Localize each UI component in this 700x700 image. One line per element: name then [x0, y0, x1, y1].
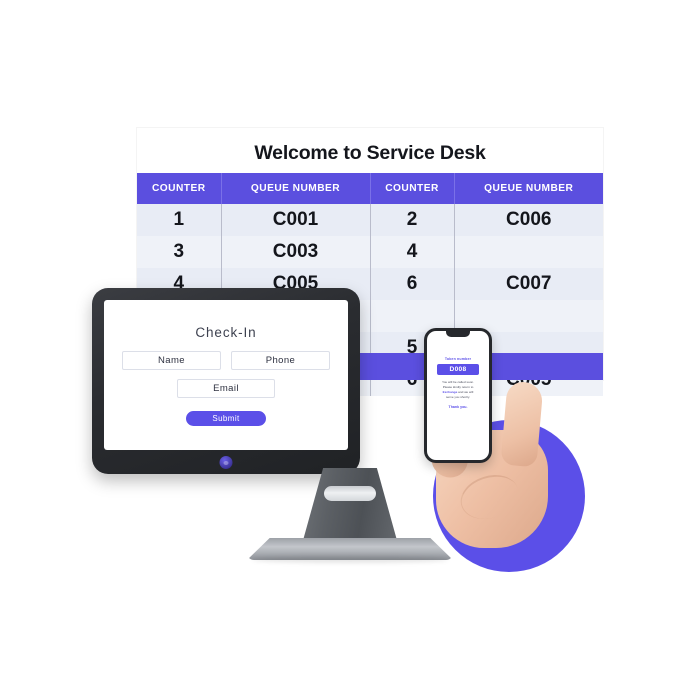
token-thanks: Thank you. [432, 405, 484, 409]
phone-notch [446, 331, 470, 337]
token-message-line-3: and we will [458, 390, 473, 394]
monitor-stand-slot [324, 486, 376, 501]
kiosk-monitor: Check-In Name Phone Email Submit [92, 288, 360, 474]
cell-counter-b: 2 [370, 204, 454, 236]
mobile-phone: Token number D008 You will be called soo… [424, 328, 492, 463]
cell-queue-a: C001 [221, 204, 370, 236]
table-row: 1 C001 2 C006 [137, 204, 603, 236]
monitor-stand-neck [302, 468, 398, 544]
cell-counter-a: 1 [137, 204, 221, 236]
checkin-form: Check-In Name Phone Email Submit [104, 300, 348, 450]
fingers [500, 381, 543, 468]
table-row: 3 C003 4 [137, 236, 603, 268]
token-number-badge: D008 [437, 364, 479, 375]
token-message-line-4: serve you shortly. [446, 395, 470, 399]
cell-queue-b: C007 [454, 268, 603, 300]
page-title: Welcome to Service Desk [137, 142, 603, 165]
monitor-screen: Check-In Name Phone Email Submit [104, 300, 348, 450]
phone-input[interactable]: Phone [231, 351, 330, 370]
phone-ticket: Token number D008 You will be called soo… [427, 357, 489, 409]
checkin-title: Check-In [195, 325, 256, 340]
email-input[interactable]: Email [177, 379, 275, 398]
column-header-counter-1: COUNTER [137, 173, 221, 204]
monitor-power-button[interactable] [220, 456, 233, 469]
cell-queue-a: C003 [221, 236, 370, 268]
token-label: Token number [432, 357, 484, 361]
token-message-line-2: Please kindly return to [443, 385, 474, 389]
cell-counter-b: 6 [370, 268, 454, 300]
submit-button[interactable]: Submit [186, 411, 266, 426]
column-header-counter-2: COUNTER [370, 173, 454, 204]
column-header-queue-2: QUEUE NUMBER [454, 173, 603, 204]
name-input[interactable]: Name [122, 351, 221, 370]
column-header-queue-1: QUEUE NUMBER [221, 173, 370, 204]
phone-screen: Token number D008 You will be called soo… [427, 331, 489, 460]
token-message: You will be called soon. Please kindly r… [432, 380, 484, 400]
checkin-field-row-2: Email [122, 379, 330, 398]
token-message-line-1: You will be called soon. [442, 380, 474, 384]
cell-counter-a: 3 [137, 236, 221, 268]
cell-queue-b [454, 236, 603, 268]
token-message-highlight: Exchange [443, 390, 458, 394]
table-header-row: COUNTER QUEUE NUMBER COUNTER QUEUE NUMBE… [137, 173, 603, 204]
cell-queue-b: C006 [454, 204, 603, 236]
checkin-field-row-1: Name Phone [122, 351, 330, 370]
cell-counter-b: 4 [370, 236, 454, 268]
